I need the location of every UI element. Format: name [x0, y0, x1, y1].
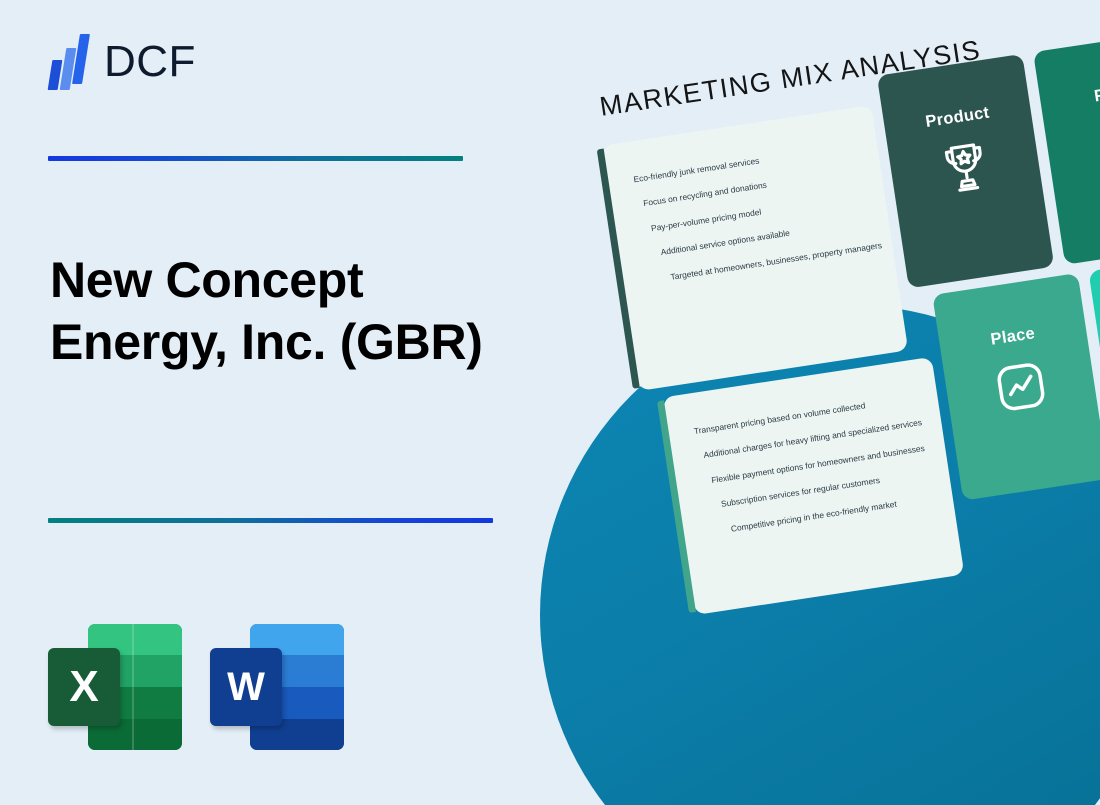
chart-square-icon	[944, 348, 1098, 425]
brand-name: DCF	[104, 40, 196, 84]
slide-canvas: DCF New Concept Energy, Inc. (GBR) X W	[0, 0, 1100, 805]
product-detail-card: Eco-friendly junk removal services Focus…	[602, 105, 908, 391]
price-card-label: Price	[1040, 73, 1100, 114]
page-title: New Concept Energy, Inc. (GBR)	[50, 250, 490, 373]
excel-file-icon[interactable]: X	[48, 622, 182, 752]
download-icons: X W	[48, 622, 344, 752]
word-file-icon[interactable]: W	[210, 622, 344, 752]
product-card[interactable]: Product	[877, 54, 1054, 289]
price-detail-card: Transparent pricing based on volume coll…	[663, 357, 965, 615]
word-letter: W	[210, 648, 282, 726]
three-bars-logo-icon	[48, 34, 90, 90]
link-icon	[1044, 105, 1100, 181]
place-card[interactable]: Place	[932, 273, 1100, 501]
divider-top	[48, 156, 463, 161]
marketing-mix-graphic: MARKETING MIX ANALYSIS Eco-friendly junk…	[520, 0, 1100, 805]
price-bullet-list: Transparent pricing based on volume coll…	[663, 357, 953, 540]
excel-letter: X	[48, 648, 120, 726]
trophy-icon	[888, 129, 1041, 204]
promotion-card-label: Promotion	[1095, 292, 1100, 333]
product-bullet-list: Eco-friendly junk removal services Focus…	[602, 105, 892, 288]
left-panel: DCF New Concept Energy, Inc. (GBR) X W	[0, 0, 560, 805]
divider-bottom	[48, 518, 493, 523]
brand-logo[interactable]: DCF	[48, 34, 196, 90]
